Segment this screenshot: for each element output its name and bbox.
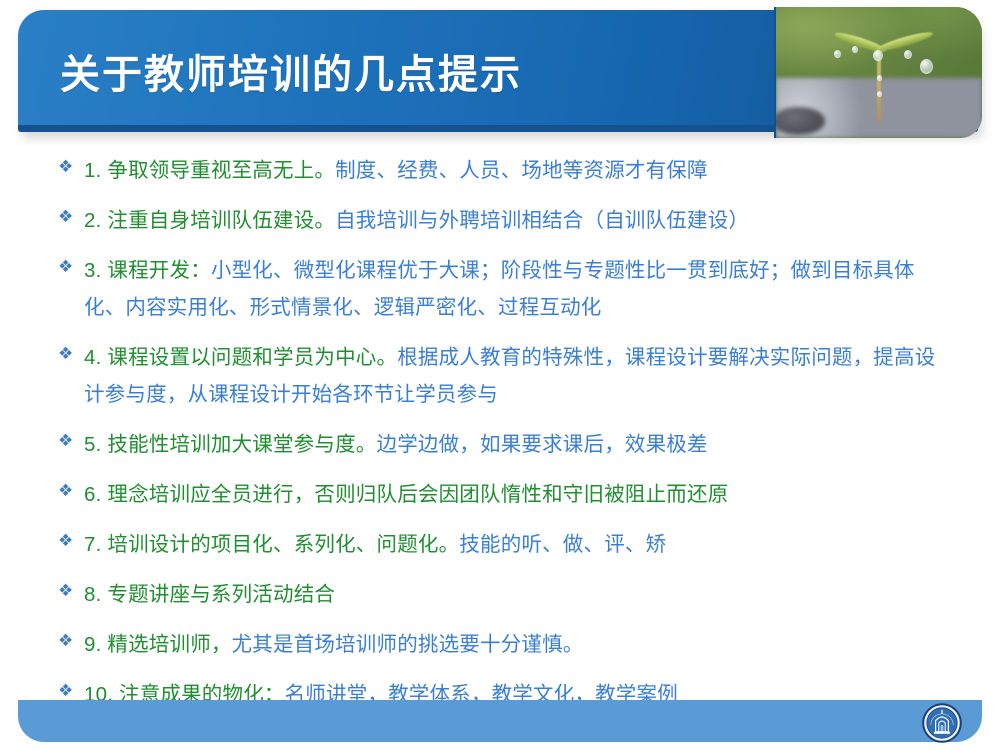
- bullet-item: ❖2. 注重自身培训队伍建设。自我培训与外聘培训相结合（自训队伍建设）: [0, 202, 1000, 239]
- diamond-bullet-icon: ❖: [58, 626, 84, 656]
- bullet-text-secondary: 自我培训与外聘培训相结合（自训队伍建设）: [335, 209, 749, 232]
- diamond-bullet-icon: ❖: [58, 339, 84, 369]
- bullet-text-primary: 7. 培训设计的项目化、系列化、问题化。: [84, 533, 459, 556]
- dewdrop-icon: [877, 91, 882, 97]
- bullet-text-secondary: 边学边做，如果要求课后，效果极差: [377, 433, 708, 456]
- bullet-text-secondary: 尤其是首场培训师的挑选要十分谨慎。: [232, 633, 584, 656]
- bullet-text: 8. 专题讲座与系列活动结合: [84, 576, 952, 613]
- dewdrop-icon: [904, 50, 912, 59]
- bullet-text: 1. 争取领导重视至高无上。制度、经费、人员、场地等资源才有保障: [84, 152, 952, 189]
- diamond-bullet-icon: ❖: [58, 426, 84, 456]
- diamond-bullet-icon: ❖: [58, 252, 84, 282]
- bullet-text: 4. 课程设置以问题和学员为中心。根据成人教育的特殊性，课程设计要解决实际问题，…: [84, 339, 952, 413]
- sprout-photo: [776, 7, 982, 138]
- slide-header: 关于教师培训的几点提示: [18, 10, 982, 132]
- bullet-list: ❖1. 争取领导重视至高无上。制度、经费、人员、场地等资源才有保障❖2. 注重自…: [0, 152, 1000, 726]
- bullet-item: ❖8. 专题讲座与系列活动结合: [0, 576, 1000, 613]
- bullet-item: ❖6. 理念培训应全员进行，否则归队后会因团队惰性和守旧被阻止而还原: [0, 476, 1000, 513]
- dewdrop-icon: [877, 75, 882, 81]
- dewdrop-icon: [873, 50, 883, 61]
- bullet-item: ❖5. 技能性培训加大课堂参与度。边学边做，如果要求课后，效果极差: [0, 426, 1000, 463]
- slide-footer: [18, 700, 982, 742]
- bullet-text-secondary: 制度、经费、人员、场地等资源才有保障: [335, 159, 708, 182]
- bullet-text-primary: 2. 注重自身培训队伍建设。: [84, 209, 335, 232]
- diamond-bullet-icon: ❖: [58, 526, 84, 556]
- slide-title: 关于教师培训的几点提示: [60, 42, 522, 100]
- diamond-bullet-icon: ❖: [58, 202, 84, 232]
- bullet-text-primary: 1. 争取领导重视至高无上。: [84, 159, 335, 182]
- bullet-text-primary: 9. 精选培训师，: [84, 633, 232, 656]
- diamond-bullet-icon: ❖: [58, 476, 84, 506]
- bullet-text: 2. 注重自身培训队伍建设。自我培训与外聘培训相结合（自训队伍建设）: [84, 202, 952, 239]
- diamond-bullet-icon: ❖: [58, 152, 84, 182]
- bullet-text: 6. 理念培训应全员进行，否则归队后会因团队惰性和守旧被阻止而还原: [84, 476, 952, 513]
- bullet-text-primary: 5. 技能性培训加大课堂参与度。: [84, 433, 377, 456]
- bullet-item: ❖7. 培训设计的项目化、系列化、问题化。技能的听、做、评、矫: [0, 526, 1000, 563]
- bullet-text-primary: 6. 理念培训应全员进行，否则归队后会因团队惰性和守旧被阻止而还原: [84, 483, 728, 506]
- bullet-text-primary: 4. 课程设置以问题和学员为中心。: [84, 346, 397, 369]
- diamond-bullet-icon: ❖: [58, 576, 84, 606]
- bullet-text-secondary: 技能的听、做、评、矫: [459, 533, 666, 556]
- bullet-item: ❖9. 精选培训师，尤其是首场培训师的挑选要十分谨慎。: [0, 626, 1000, 663]
- bullet-text: 5. 技能性培训加大课堂参与度。边学边做，如果要求课后，效果极差: [84, 426, 952, 463]
- bullet-item: ❖4. 课程设置以问题和学员为中心。根据成人教育的特殊性，课程设计要解决实际问题…: [0, 339, 1000, 413]
- bullet-item: ❖3. 课程开发：小型化、微型化课程优于大课；阶段性与专题性比一贯到底好；做到目…: [0, 252, 1000, 326]
- bullet-text-primary: 3. 课程开发：: [84, 259, 211, 282]
- bullet-text: 7. 培训设计的项目化、系列化、问题化。技能的听、做、评、矫: [84, 526, 952, 563]
- presentation-slide: 关于教师培训的几点提示 ❖1. 争取领导重视至高无上。制度、经费、人员、场地等资…: [0, 0, 1000, 750]
- bullet-text: 3. 课程开发：小型化、微型化课程优于大课；阶段性与专题性比一贯到底好；做到目标…: [84, 252, 952, 326]
- university-seal-logo-icon: [922, 703, 962, 743]
- dewdrop-icon: [834, 50, 841, 58]
- bullet-text-primary: 8. 专题讲座与系列活动结合: [84, 583, 335, 606]
- bullet-item: ❖1. 争取领导重视至高无上。制度、经费、人员、场地等资源才有保障: [0, 152, 1000, 189]
- bullet-text: 9. 精选培训师，尤其是首场培训师的挑选要十分谨慎。: [84, 626, 952, 663]
